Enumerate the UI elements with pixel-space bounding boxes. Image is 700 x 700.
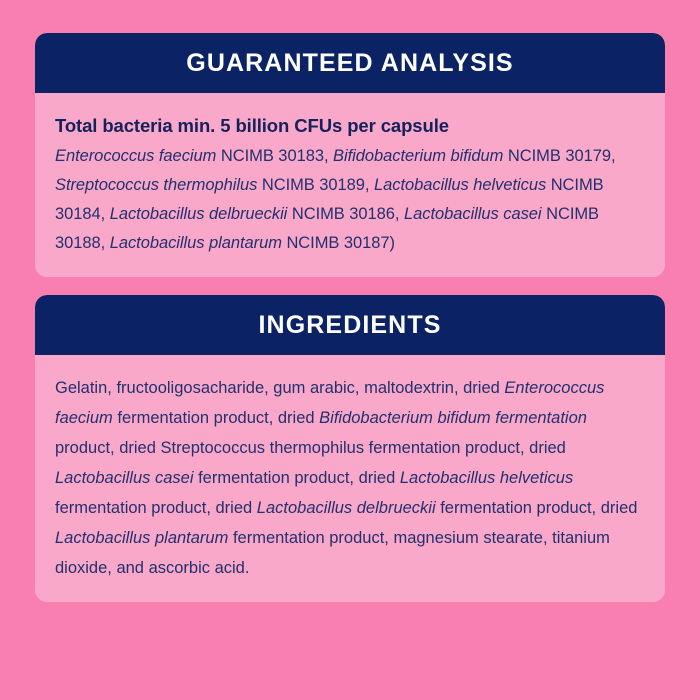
organism-name: Enterococcus faecium [55, 147, 216, 165]
organism-name: Lactobacillus casei [55, 469, 194, 487]
body-run: NCIMB 30189, [257, 176, 374, 194]
panel-header-ingredients: INGREDIENTS [35, 295, 665, 355]
panel-ingredients: INGREDIENTS Gelatin, fructooligosacharid… [35, 295, 665, 602]
panel-header-guaranteed-analysis: GUARANTEED ANALYSIS [35, 33, 665, 93]
body-run: Gelatin, fructooligosacharide, gum arabi… [55, 379, 504, 397]
body-run: fermentation product, dried [113, 409, 319, 427]
body-run: NCIMB 30179, [503, 147, 615, 165]
organism-name: Lactobacillus delbrueckii [110, 205, 288, 223]
body-run: NCIMB 30186, [287, 205, 404, 223]
panel-body-guaranteed-analysis: Total bacteria min. 5 billion CFUs per c… [35, 93, 665, 277]
organism-name: Lactobacillus plantarum [55, 529, 228, 547]
body-run: fermentation product, dried [436, 499, 638, 517]
organism-name: Bifidobacterium bifidum fermentation [319, 409, 587, 427]
organism-name: Lactobacillus helveticus [400, 469, 573, 487]
organism-name: Lactobacillus plantarum [110, 234, 282, 252]
organism-name: Lactobacillus delbrueckii [257, 499, 436, 517]
supplement-label-root: GUARANTEED ANALYSIS Total bacteria min. … [0, 0, 700, 700]
organism-name: Bifidobacterium bifidum [333, 147, 503, 165]
panel-guaranteed-analysis: GUARANTEED ANALYSIS Total bacteria min. … [35, 33, 665, 277]
organism-name: Streptococcus thermophilus [55, 176, 257, 194]
organism-name: Lactobacillus casei [404, 205, 542, 223]
body-run: product, dried Streptococcus thermophilu… [55, 439, 566, 457]
body-run: NCIMB 30187) [282, 234, 395, 252]
guaranteed-analysis-lead: Total bacteria min. 5 billion CFUs per c… [55, 111, 645, 141]
body-run: NCIMB 30183, [216, 147, 333, 165]
guaranteed-analysis-text: Enterococcus faecium NCIMB 30183, Bifido… [55, 142, 645, 258]
body-run: fermentation product, dried [55, 499, 257, 517]
organism-name: Lactobacillus helveticus [374, 176, 546, 194]
ingredients-text: Gelatin, fructooligosacharide, gum arabi… [55, 373, 645, 583]
panel-body-ingredients: Gelatin, fructooligosacharide, gum arabi… [35, 355, 665, 602]
body-run: fermentation product, dried [194, 469, 400, 487]
